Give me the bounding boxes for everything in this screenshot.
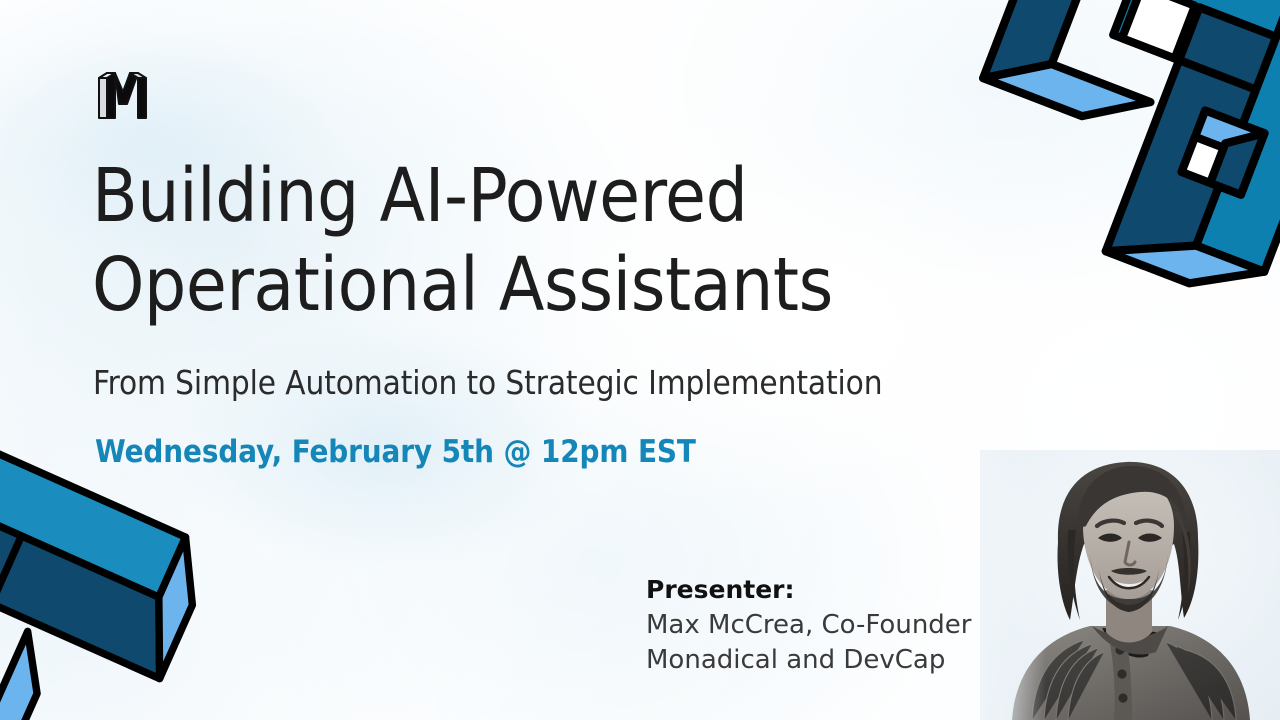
event-datetime: Wednesday, February 5th @ 12pm EST: [95, 432, 696, 472]
presenter-company: Monadical and DevCap: [646, 643, 1006, 678]
headline-line-2: Operational Assistants: [92, 241, 972, 330]
presenter-headshot-photo: [980, 450, 1280, 720]
headline-line-1: Building AI-Powered: [92, 152, 972, 241]
presenter-name: Max McCrea, Co-Founder: [646, 608, 1006, 643]
webinar-slide: Building AI-Powered Operational Assistan…: [0, 0, 1280, 720]
presenter-block: Presenter: Max McCrea, Co-Founder Monadi…: [646, 572, 1006, 678]
page-title: Building AI-Powered Operational Assistan…: [92, 152, 972, 330]
presenter-label: Presenter:: [646, 572, 1006, 608]
monadical-m-logo-icon: [96, 70, 150, 122]
subtitle: From Simple Automation to Strategic Impl…: [93, 362, 882, 404]
